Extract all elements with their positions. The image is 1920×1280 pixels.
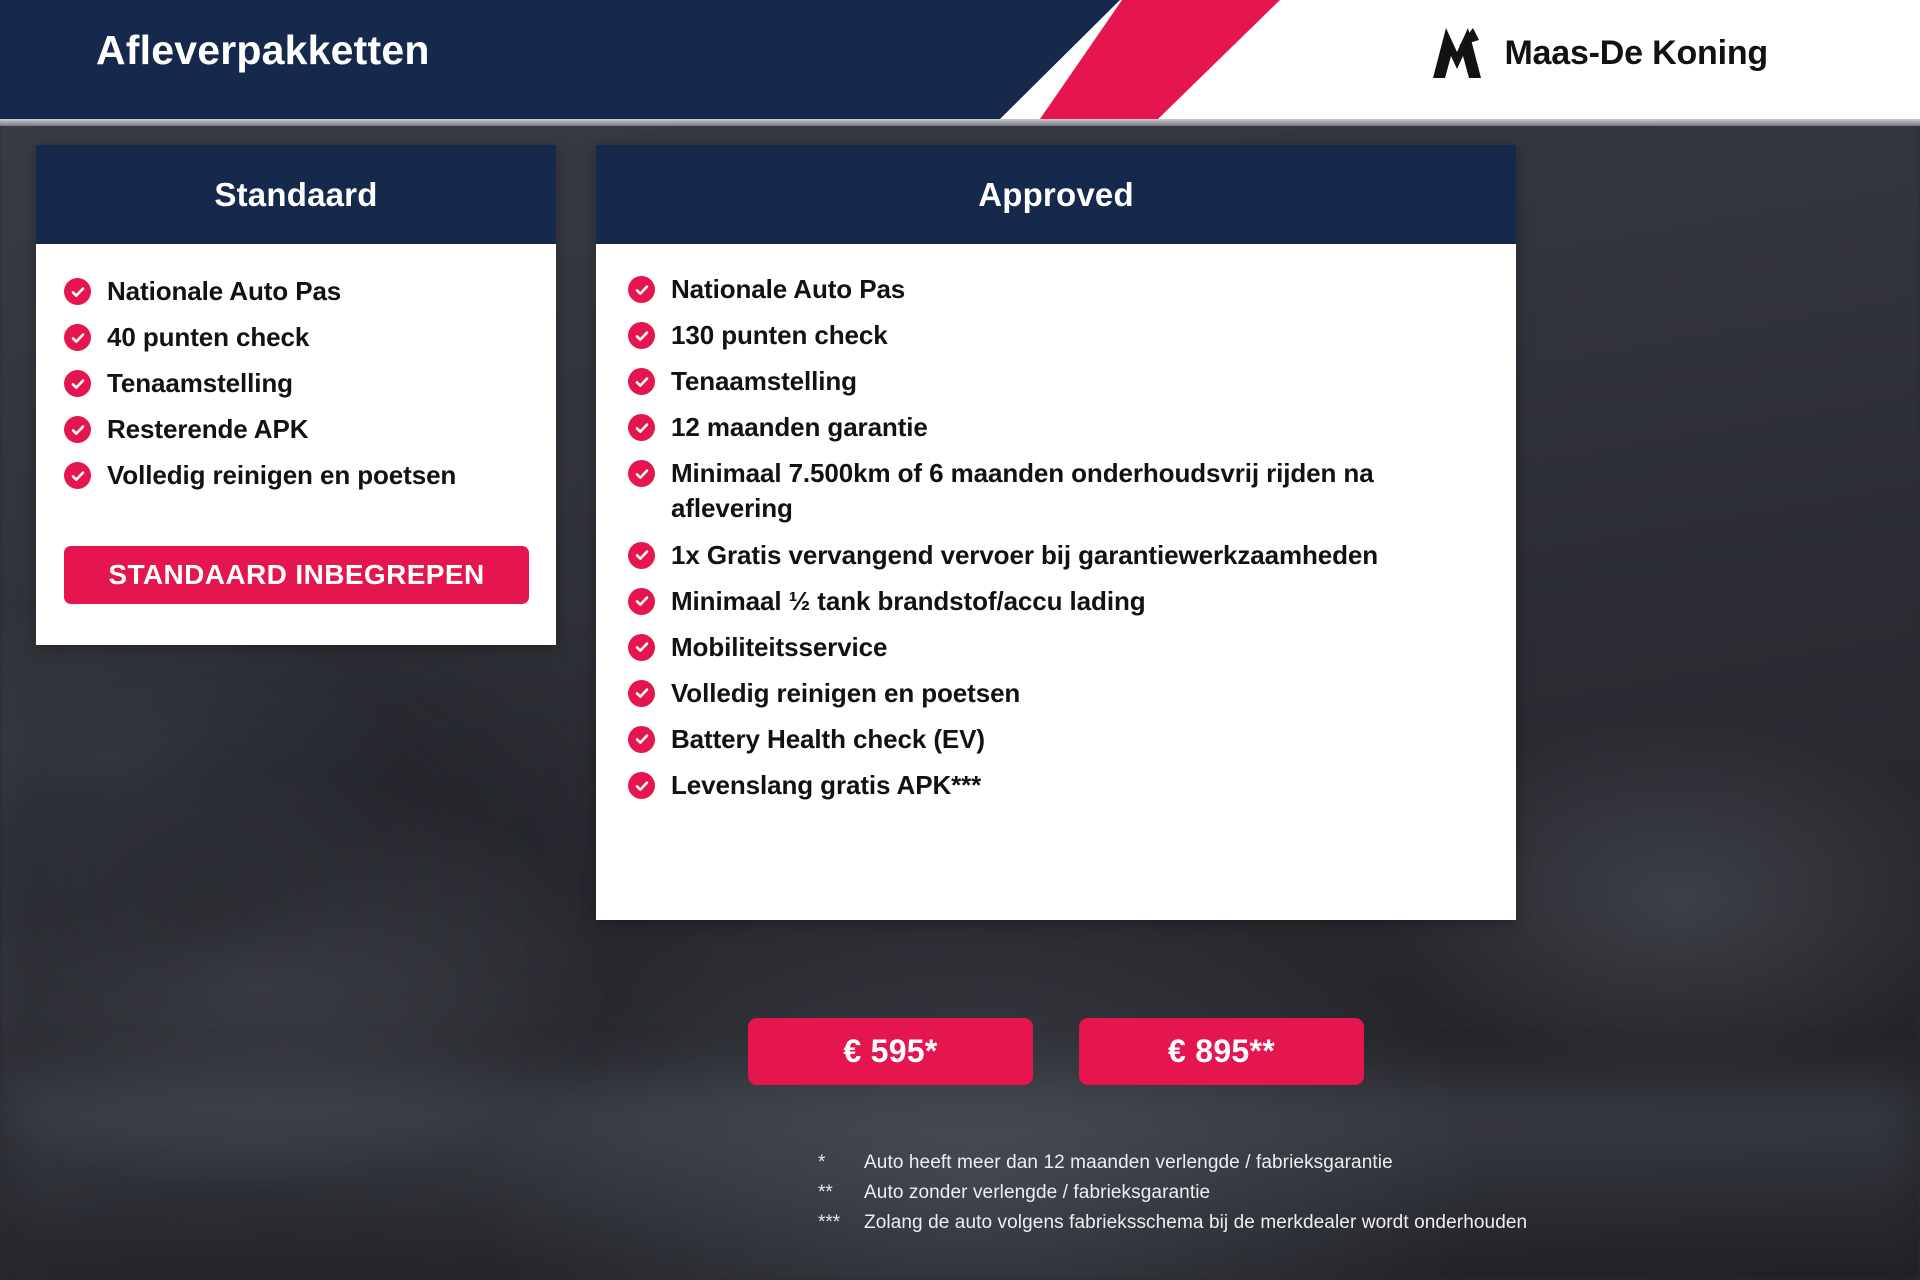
list-item: Tenaamstelling <box>628 364 1490 399</box>
brand-logo: Maas-De Koning <box>1429 26 1768 80</box>
feature-label: 130 punten check <box>671 318 888 353</box>
feature-label: Levenslang gratis APK*** <box>671 768 981 803</box>
footnote-block: * Auto heeft meer dan 12 maanden verleng… <box>818 1152 1818 1242</box>
footnote-text: Auto zonder verlengde / fabrieksgarantie <box>864 1182 1210 1204</box>
feature-label: Minimaal ½ tank brandstof/accu lading <box>671 584 1146 619</box>
feature-label: 12 maanden garantie <box>671 410 928 445</box>
check-circle-icon <box>628 276 655 303</box>
list-item: 130 punten check <box>628 318 1490 353</box>
header-divider <box>0 119 1920 126</box>
check-circle-icon <box>628 634 655 661</box>
standaard-included-button[interactable]: STANDAARD INBEGREPEN <box>64 546 529 604</box>
card-body-approved: Nationale Auto Pas 130 punten check Tena… <box>596 244 1516 803</box>
check-circle-icon <box>628 772 655 799</box>
feature-label: Minimaal 7.500km of 6 maanden onderhouds… <box>671 456 1490 526</box>
footnote-marker: * <box>818 1152 864 1174</box>
list-item: Battery Health check (EV) <box>628 722 1490 757</box>
list-item: 40 punten check <box>64 320 528 355</box>
check-circle-icon <box>628 460 655 487</box>
list-item: Resterende APK <box>64 412 528 447</box>
feature-label: Volledig reinigen en poetsen <box>107 458 456 493</box>
list-item: Mobiliteitsservice <box>628 630 1490 665</box>
feature-label: 40 punten check <box>107 320 309 355</box>
maas-de-koning-m-mark-icon <box>1429 26 1485 80</box>
page-header: Afleverpakketten Maas-De Koning <box>0 0 1920 119</box>
price-button-895[interactable]: € 895** <box>1079 1018 1364 1085</box>
card-body-standaard: Nationale Auto Pas 40 punten check Tenaa… <box>36 244 556 493</box>
check-circle-icon <box>64 416 91 443</box>
brand-name: Maas-De Koning <box>1504 34 1768 73</box>
card-title-standaard: Standaard <box>214 176 377 214</box>
feature-label: Battery Health check (EV) <box>671 722 985 757</box>
feature-label: Nationale Auto Pas <box>107 274 341 309</box>
footnote-text: Zolang de auto volgens fabrieksschema bi… <box>864 1212 1527 1234</box>
list-item: Tenaamstelling <box>64 366 528 401</box>
card-header-standaard: Standaard <box>36 145 556 244</box>
feature-label: Tenaamstelling <box>671 364 857 399</box>
price-button-row: € 595* € 895** <box>596 1018 1516 1085</box>
feature-label: Volledig reinigen en poetsen <box>671 676 1020 711</box>
feature-label: 1x Gratis vervangend vervoer bij garanti… <box>671 538 1378 573</box>
list-item: 12 maanden garantie <box>628 410 1490 445</box>
card-title-approved: Approved <box>978 176 1134 214</box>
check-circle-icon <box>628 368 655 395</box>
list-item: 1x Gratis vervangend vervoer bij garanti… <box>628 538 1490 573</box>
page-title: Afleverpakketten <box>96 27 430 74</box>
list-item: Minimaal 7.500km of 6 maanden onderhouds… <box>628 456 1490 526</box>
price-button-595[interactable]: € 595* <box>748 1018 1033 1085</box>
list-item: Volledig reinigen en poetsen <box>628 676 1490 711</box>
list-item: Nationale Auto Pas <box>628 272 1490 307</box>
poster-root: Afleverpakketten Maas-De Koning Standaar… <box>0 0 1920 1280</box>
footnote-row: * Auto heeft meer dan 12 maanden verleng… <box>818 1152 1818 1174</box>
check-circle-icon <box>628 588 655 615</box>
check-circle-icon <box>64 324 91 351</box>
footnote-row: ** Auto zonder verlengde / fabrieksgaran… <box>818 1182 1818 1204</box>
list-item: Nationale Auto Pas <box>64 274 528 309</box>
feature-list-standaard: Nationale Auto Pas 40 punten check Tenaa… <box>64 274 528 493</box>
check-circle-icon <box>64 370 91 397</box>
feature-label: Resterende APK <box>107 412 308 447</box>
list-item: Volledig reinigen en poetsen <box>64 458 528 493</box>
check-circle-icon <box>628 322 655 349</box>
check-circle-icon <box>628 542 655 569</box>
check-circle-icon <box>64 278 91 305</box>
feature-label: Tenaamstelling <box>107 366 293 401</box>
feature-list-approved: Nationale Auto Pas 130 punten check Tena… <box>628 272 1490 803</box>
list-item: Levenslang gratis APK*** <box>628 768 1490 803</box>
footnote-row: *** Zolang de auto volgens fabrieksschem… <box>818 1212 1818 1234</box>
footnote-text: Auto heeft meer dan 12 maanden verlengde… <box>864 1152 1393 1174</box>
check-circle-icon <box>628 414 655 441</box>
card-header-approved: Approved <box>596 145 1516 244</box>
check-circle-icon <box>64 462 91 489</box>
footnote-marker: *** <box>818 1212 864 1234</box>
check-circle-icon <box>628 680 655 707</box>
check-circle-icon <box>628 726 655 753</box>
footnote-marker: ** <box>818 1182 864 1204</box>
feature-label: Mobiliteitsservice <box>671 630 887 665</box>
list-item: Minimaal ½ tank brandstof/accu lading <box>628 584 1490 619</box>
feature-label: Nationale Auto Pas <box>671 272 905 307</box>
package-card-approved: Approved Nationale Auto Pas 130 punten c… <box>596 145 1516 920</box>
